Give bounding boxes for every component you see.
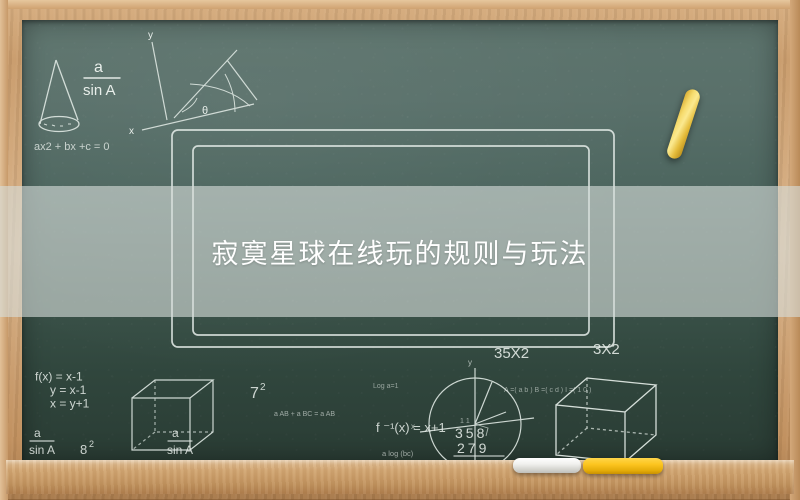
quadratic-equation: ax2 + bx +c = 0 [34, 141, 110, 153]
blackboard-banner-stage: a sin A y x θ ax2 + bx +c = 0 [0, 0, 800, 500]
matrix-row: A =( a b ) B =( c d ) I =( 1 0 ) [504, 387, 591, 394]
eight-squared-power: 2 [89, 439, 94, 449]
ratio-sin-a-1: sin A [29, 443, 55, 457]
ratio-a-1: a [34, 426, 41, 440]
ratio-sin-a-2: sin A [167, 443, 193, 457]
label-3x2: 3X2 [593, 341, 620, 358]
chalk-stick-white [513, 458, 581, 473]
cone-diagram [39, 60, 79, 132]
circle-axis-y: y [468, 358, 472, 367]
axis-label-y: y [148, 30, 153, 41]
law-of-sines-denominator: sin A [83, 82, 116, 99]
log-identity: a log (bc) [382, 449, 414, 458]
small-vector-equation: a AB + a BC = a AB [274, 411, 335, 418]
function-line-3: x = y+1 [50, 397, 90, 411]
angle-theta-label: θ [202, 105, 208, 117]
axis-label-x: x [129, 126, 134, 137]
function-line-1: f(x) = x-1 [35, 370, 83, 384]
eight-squared: 8 [80, 442, 87, 457]
ratio-a-2: a [172, 426, 179, 440]
exponent-seven: 7 [250, 385, 259, 402]
page-title: 寂寞星球在线玩的规则与玩法 [212, 232, 589, 271]
addition-carry: 1 1 [460, 418, 470, 425]
angle-diagram [142, 42, 257, 130]
function-lines-group: f(x) = x-1 y = x-1 x = y+1 [35, 370, 90, 411]
frame-top-bevel [0, 0, 800, 9]
chalk-tray [6, 460, 794, 494]
exponent-seven-power: 2 [260, 382, 266, 393]
label-35x2: 35X2 [494, 345, 529, 362]
log-label: Log a=1 [373, 383, 399, 390]
law-of-sines-numerator: a [94, 59, 103, 76]
function-line-2: y = x-1 [50, 383, 87, 397]
title-banner: 寂寞星球在线玩的规则与玩法 [0, 186, 800, 317]
circle-axis-x: x [411, 422, 415, 431]
addition-bottom: 279 [457, 440, 489, 456]
chalk-stick-yellow [583, 458, 663, 474]
